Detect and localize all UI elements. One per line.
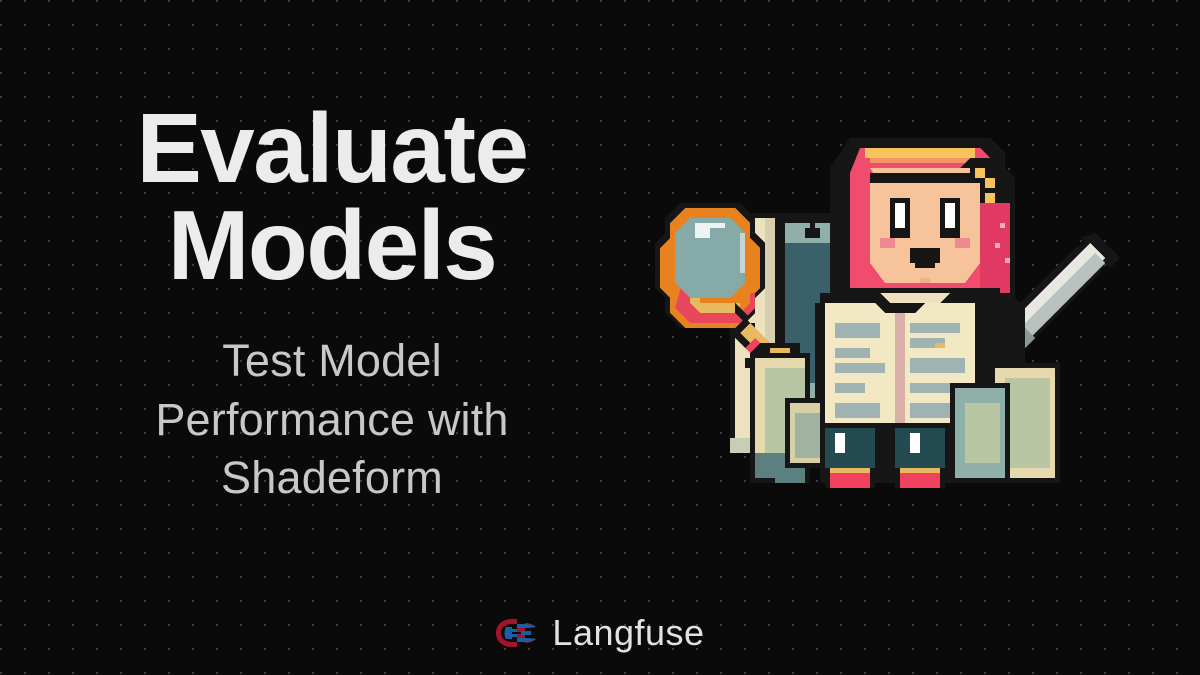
logo-blue-part: [505, 624, 537, 642]
langfuse-logo-icon: [495, 616, 537, 650]
pixel-art-illustration: [620, 123, 1160, 513]
text-column: Evaluate Models Test Model Performance w…: [0, 100, 660, 508]
brand-footer: Langfuse: [0, 615, 1200, 651]
social-card: Evaluate Models Test Model Performance w…: [0, 0, 1200, 675]
brand-name: Langfuse: [552, 615, 704, 651]
